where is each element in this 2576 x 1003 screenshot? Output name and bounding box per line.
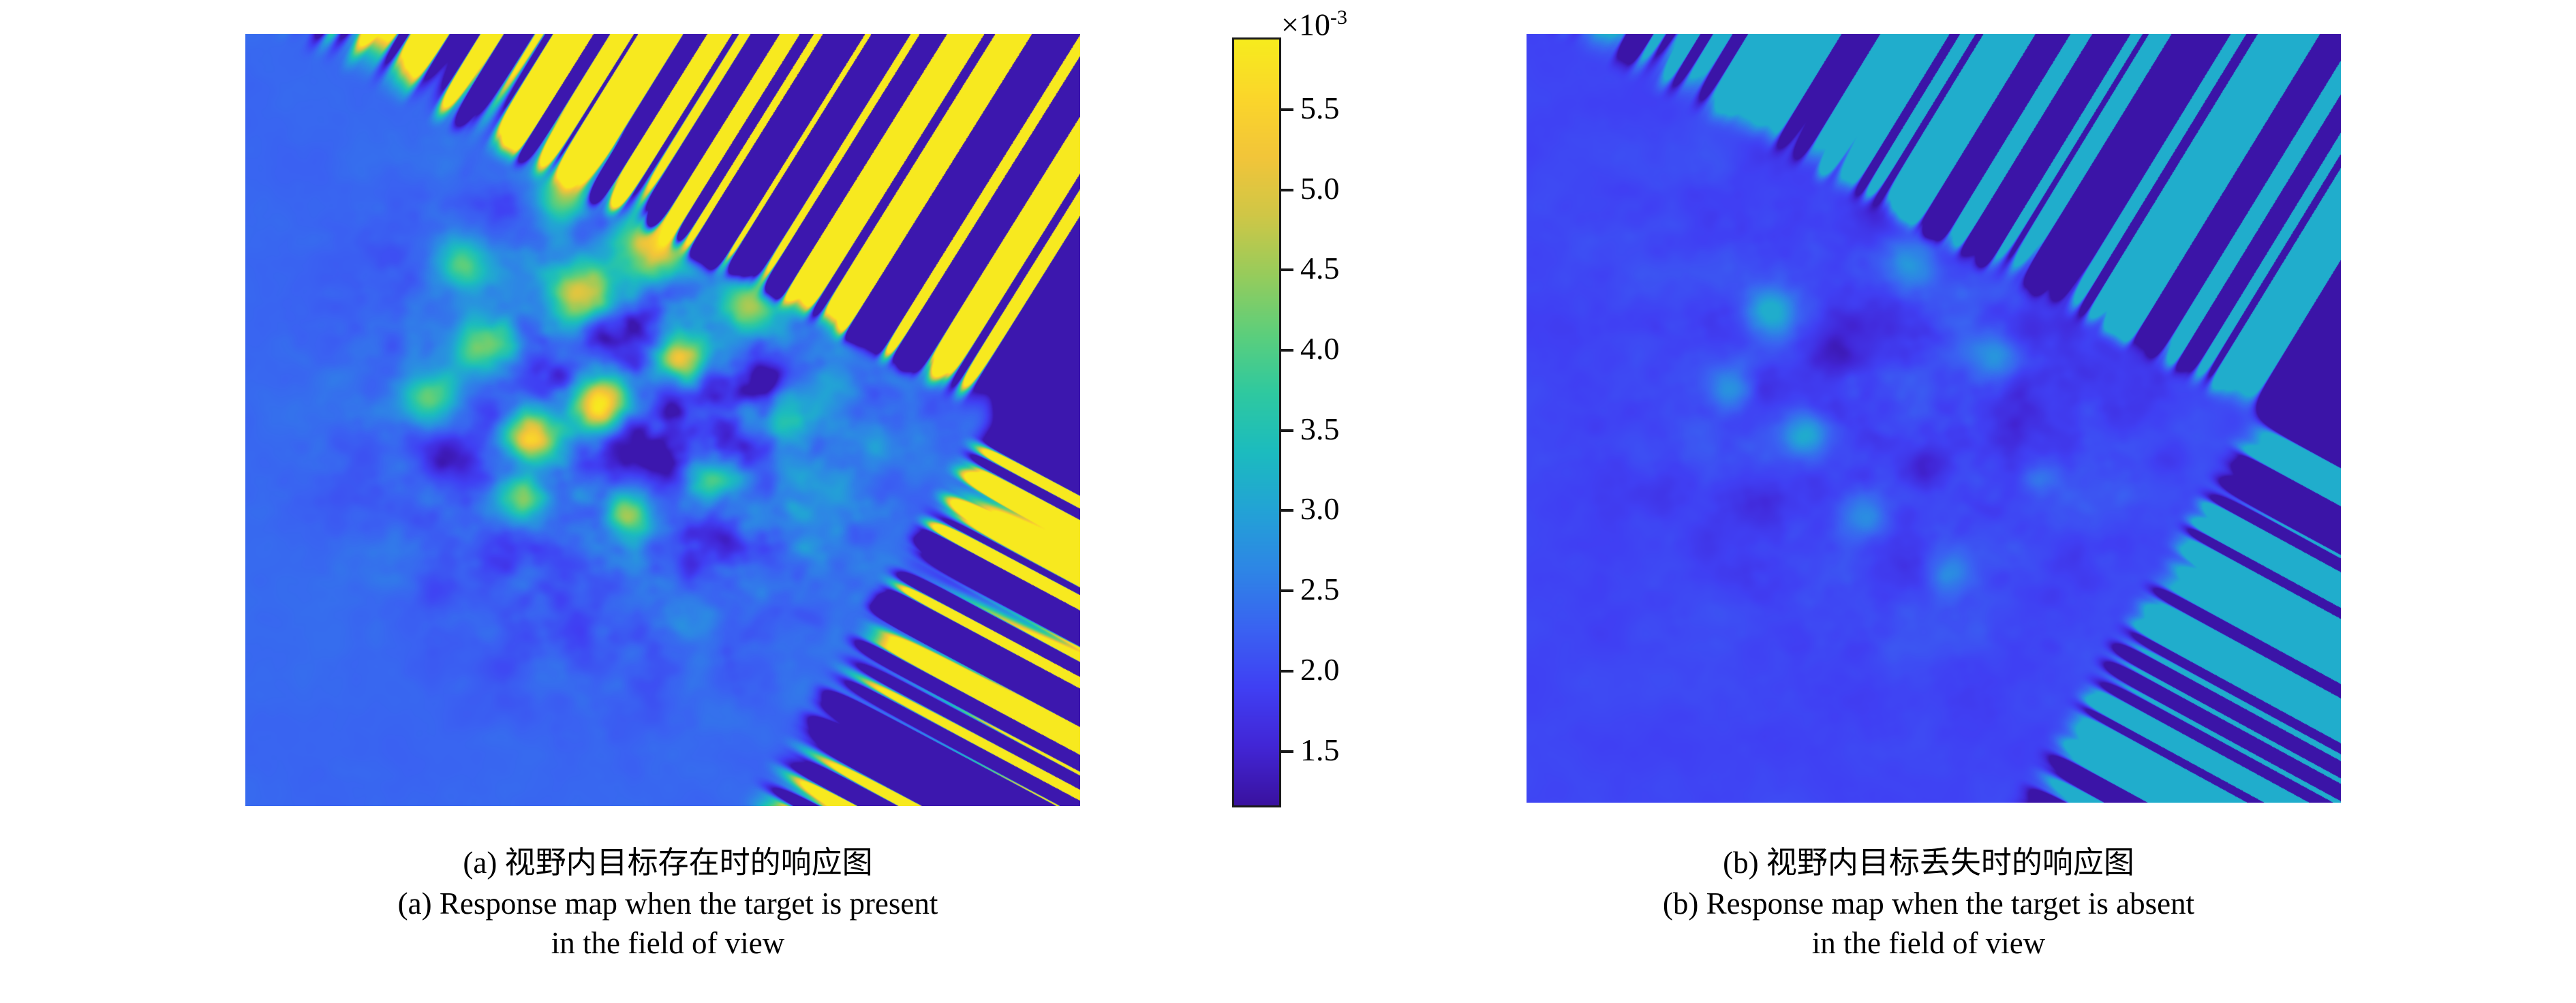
colorbar: ×10-3 5.55.04.54.03.53.02.52.01.5 bbox=[1232, 37, 1430, 807]
colorbar-tick-label: 5.0 bbox=[1300, 173, 1340, 204]
colorbar-tick-mark bbox=[1281, 268, 1293, 271]
caption-a-english-line1: (a) Response map when the target is pres… bbox=[123, 884, 1213, 923]
colorbar-tick-label: 3.5 bbox=[1300, 414, 1340, 445]
caption-b-english-line1: (b) Response map when the target is abse… bbox=[1370, 884, 2487, 923]
colorbar-tick-label: 5.5 bbox=[1300, 93, 1340, 124]
colorbar-gradient bbox=[1232, 37, 1281, 807]
response-map-panel-a bbox=[245, 34, 1080, 806]
caption-a-english-line2: in the field of view bbox=[123, 923, 1213, 963]
caption-a-chinese: (a) 视野内目标存在时的响应图 bbox=[123, 842, 1213, 884]
colorbar-tick-label: 2.5 bbox=[1300, 574, 1340, 605]
colorbar-tick-label: 1.5 bbox=[1300, 735, 1340, 766]
colorbar-tick-mark bbox=[1281, 670, 1293, 673]
colorbar-exponent-label: ×10-3 bbox=[1281, 2, 1347, 40]
caption-b-chinese: (b) 视野内目标丢失时的响应图 bbox=[1370, 842, 2487, 884]
colorbar-tick-mark bbox=[1281, 509, 1293, 512]
colorbar-tick-mark bbox=[1281, 108, 1293, 111]
caption-b-english-line2: in the field of view bbox=[1370, 923, 2487, 963]
colorbar-tick-mark bbox=[1281, 189, 1293, 191]
colorbar-tick-label: 4.5 bbox=[1300, 253, 1340, 284]
colorbar-tick-label: 3.0 bbox=[1300, 493, 1340, 525]
colorbar-tick-label: 2.0 bbox=[1300, 654, 1340, 685]
colorbar-tick-mark bbox=[1281, 349, 1293, 352]
caption-panel-b: (b) 视野内目标丢失时的响应图 (b) Response map when t… bbox=[1370, 842, 2487, 963]
figure-root: ×10-3 5.55.04.54.03.53.02.52.01.5 (a) 视野… bbox=[0, 0, 2576, 1003]
colorbar-exponent-mantissa: ×10 bbox=[1281, 7, 1330, 42]
caption-panel-a: (a) 视野内目标存在时的响应图 (a) Response map when t… bbox=[123, 842, 1213, 963]
colorbar-tick-mark bbox=[1281, 429, 1293, 432]
colorbar-exponent-power: -3 bbox=[1330, 6, 1347, 29]
colorbar-tick-mark bbox=[1281, 750, 1293, 753]
response-map-panel-b bbox=[1527, 34, 2341, 803]
colorbar-tick-mark bbox=[1281, 589, 1293, 592]
colorbar-tick-label: 4.0 bbox=[1300, 333, 1340, 365]
